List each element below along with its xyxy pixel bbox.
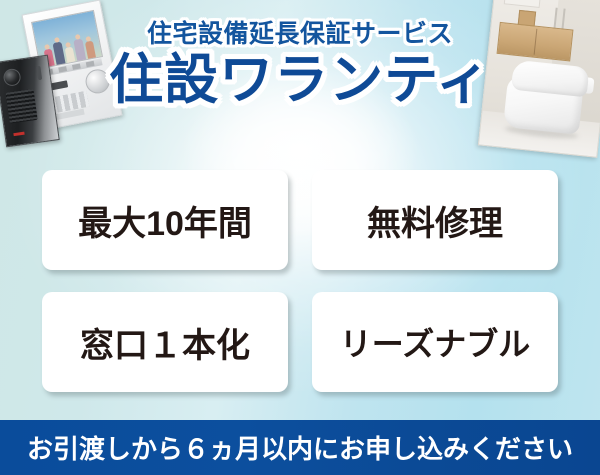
call-indicator [13, 132, 24, 137]
feature-label: 最大10年間 [78, 196, 252, 245]
headline-block: 住宅設備延長保証サービス 住設ワランティ [0, 14, 600, 109]
feature-label: 無料修理 [367, 196, 503, 245]
feature-card-reasonable[interactable]: リーズナブル [312, 292, 558, 392]
feature-label: 窓口１本化 [80, 318, 250, 367]
feature-card-free-repair[interactable]: 無料修理 [312, 170, 558, 270]
feature-card-single-contact[interactable]: 窓口１本化 [42, 292, 288, 392]
cta-banner[interactable]: お引渡しから６ヵ月以内にお申し込みください [0, 420, 600, 475]
feature-card-duration[interactable]: 最大10年間 [42, 170, 288, 270]
toilet-wall-panel [504, 0, 541, 8]
feature-grid: 最大10年間 無料修理 窓口１本化 リーズナブル [42, 170, 558, 392]
promo-banner: 住宅設備延長保証サービス 住設ワランティ 最大10年間 無料修理 窓口１本化 リ… [0, 0, 600, 475]
feature-label: リーズナブル [340, 319, 530, 365]
service-subtitle: 住宅設備延長保証サービス [0, 14, 600, 50]
cta-text: お引渡しから６ヵ月以内にお申し込みください [27, 429, 573, 466]
page-title: 住設ワランティ [0, 52, 600, 109]
